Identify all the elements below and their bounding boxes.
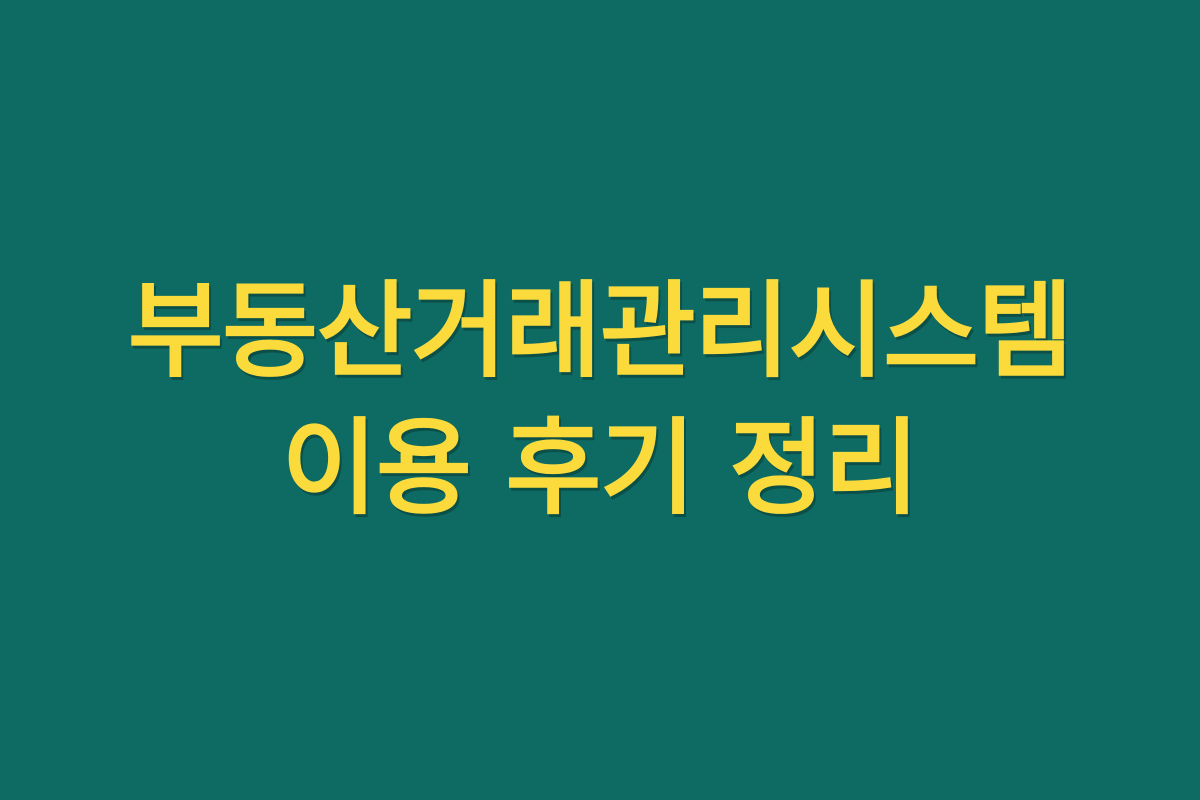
title-text-block: 부동산거래관리시스템 이용 후기 정리 [0, 263, 1200, 538]
title-line-1: 부동산거래관리시스템 [128, 263, 1072, 400]
title-line-2: 이용 후기 정리 [282, 400, 919, 537]
title-card: 부동산거래관리시스템 이용 후기 정리 [0, 0, 1200, 800]
